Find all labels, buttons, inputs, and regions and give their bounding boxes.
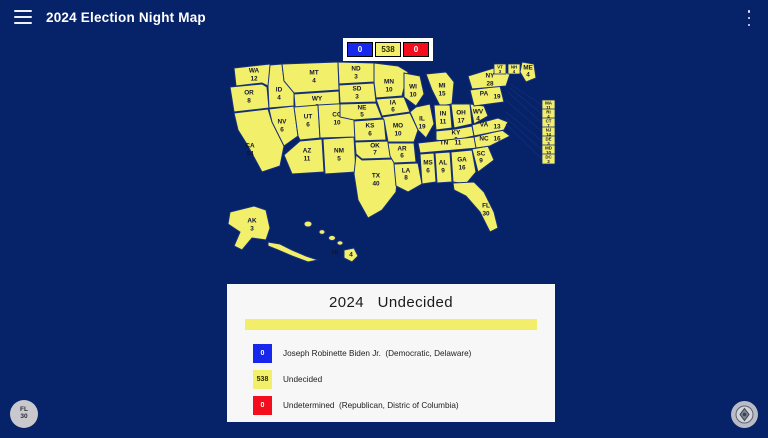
hamburger-line bbox=[14, 16, 32, 18]
legend-panel: 2024 Undecided 0 Joseph Robinette Biden … bbox=[227, 284, 555, 422]
election-map-app: 2024 Election Night Map 0 538 0 WA 12 OR… bbox=[0, 0, 768, 438]
state-mn[interactable]: MN 10 bbox=[374, 63, 408, 98]
state-ga[interactable]: GA 16 bbox=[451, 150, 476, 184]
state-wi[interactable]: WI 10 bbox=[404, 73, 424, 106]
score-democrat[interactable]: 0 bbox=[347, 42, 373, 57]
state-label-hi: HI bbox=[332, 250, 339, 257]
hamburger-line bbox=[14, 10, 32, 12]
page-title: 2024 Election Night Map bbox=[46, 10, 206, 25]
state-ut[interactable]: UT 6 bbox=[294, 105, 320, 140]
state-ia[interactable]: IA 6 bbox=[376, 97, 410, 116]
legend-swatch-democrat: 0 bbox=[253, 344, 272, 363]
badge-state-votes: 30 bbox=[20, 414, 27, 421]
state-az[interactable]: AZ 11 bbox=[284, 139, 324, 174]
state-dc[interactable]: DC 3 bbox=[542, 154, 555, 164]
state-fl[interactable]: FL 30 bbox=[453, 182, 498, 232]
state-nd[interactable]: ND 3 bbox=[338, 62, 374, 84]
kebab-dot bbox=[748, 24, 751, 27]
state-focus-badge[interactable]: FL 30 bbox=[10, 400, 38, 428]
state-in[interactable]: IN 11 bbox=[434, 105, 452, 130]
state-ak[interactable]: AK 3 bbox=[228, 206, 270, 250]
state-mt[interactable]: MT 4 bbox=[282, 62, 339, 93]
legend-title: 2024 Undecided bbox=[227, 284, 555, 311]
legend-label-democrat: Joseph Robinette Biden Jr. (Democratic, … bbox=[283, 349, 471, 358]
legend-swatch-undecided: 538 bbox=[253, 370, 272, 389]
callout-leader-lines bbox=[506, 84, 542, 159]
electoral-vote-scoreboard: 0 538 0 bbox=[343, 38, 433, 61]
legend-row-undecided[interactable]: 538 Undecided bbox=[253, 366, 555, 392]
state-ms[interactable]: MS 6 bbox=[420, 153, 436, 184]
state-oh[interactable]: OH 17 bbox=[451, 104, 472, 128]
state-or[interactable]: OR 8 bbox=[230, 84, 269, 112]
state-ar[interactable]: AR 6 bbox=[388, 143, 416, 163]
app-header: 2024 Election Night Map bbox=[0, 0, 768, 34]
kebab-dot bbox=[748, 17, 751, 20]
compass-target-icon[interactable] bbox=[731, 401, 758, 428]
state-ok[interactable]: OK 7 bbox=[355, 141, 392, 159]
kebab-menu-icon[interactable] bbox=[742, 10, 756, 26]
state-al[interactable]: AL 9 bbox=[435, 152, 452, 183]
state-sd[interactable]: SD 3 bbox=[339, 83, 376, 103]
legend-swatch-republican: 0 bbox=[253, 396, 272, 415]
state-vt[interactable]: VT 3 bbox=[494, 64, 506, 74]
state-ks[interactable]: KS 6 bbox=[354, 119, 386, 141]
state-nh[interactable]: NH 4 bbox=[508, 64, 520, 74]
legend-label-undecided: Undecided bbox=[283, 375, 322, 384]
state-hi[interactable]: HI 4 bbox=[304, 221, 358, 262]
us-electoral-map[interactable]: WA 12 OR 8 CA 54 NV 6 bbox=[222, 60, 572, 275]
state-nm[interactable]: NM 5 bbox=[323, 137, 356, 174]
hamburger-line bbox=[14, 22, 32, 24]
score-republican[interactable]: 0 bbox=[403, 42, 429, 57]
legend-row-republican[interactable]: 0 Undetermined (Republican, Distric of C… bbox=[253, 392, 555, 418]
legend-progress-bar bbox=[245, 319, 537, 330]
legend-label-republican: Undetermined (Republican, Distric of Col… bbox=[283, 401, 459, 410]
aleutian-islands bbox=[268, 242, 318, 262]
legend-rows: 0 Joseph Robinette Biden Jr. (Democratic… bbox=[253, 340, 555, 418]
hamburger-icon[interactable] bbox=[14, 10, 32, 24]
legend-row-democrat[interactable]: 0 Joseph Robinette Biden Jr. (Democratic… bbox=[253, 340, 555, 366]
kebab-dot bbox=[748, 10, 751, 13]
state-me[interactable]: ME 4 bbox=[520, 62, 536, 82]
score-undecided[interactable]: 538 bbox=[375, 42, 401, 57]
state-la[interactable]: LA 8 bbox=[394, 163, 422, 192]
state-tx[interactable]: TX 40 bbox=[354, 155, 398, 218]
state-mi[interactable]: MI 15 bbox=[426, 72, 454, 106]
state-ne[interactable]: NE 5 bbox=[340, 103, 382, 120]
